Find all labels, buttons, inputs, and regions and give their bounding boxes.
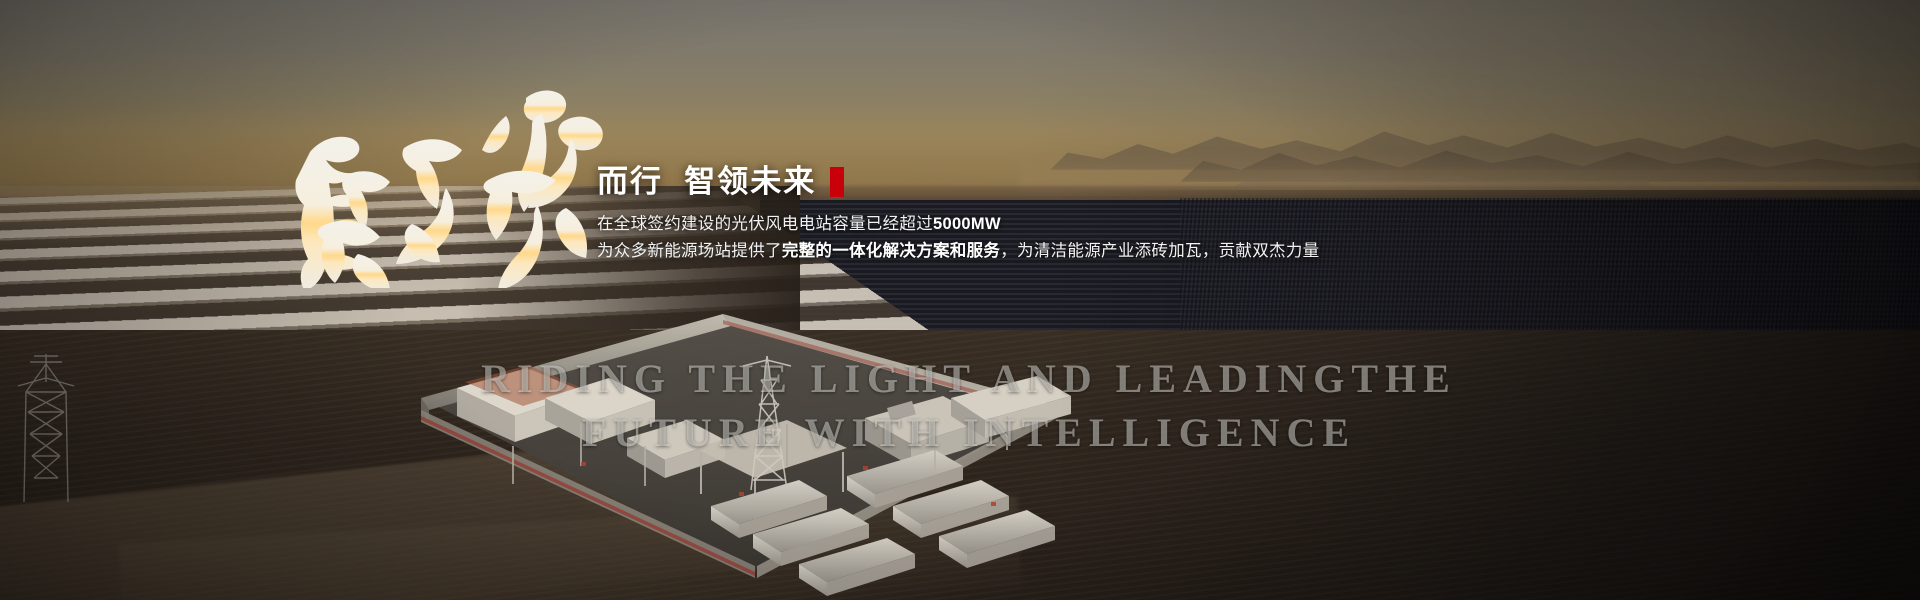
hero-subtitle-line-2: 为众多新能源场站提供了完整的一体化解决方案和服务，为清洁能源产业添砖加瓦，贡献双… (597, 239, 1357, 265)
hero-subtitle-line-1: 在全球签约建设的光伏风电电站容量已经超过5000MW (597, 212, 1357, 238)
subtitle-line1-capacity: 5000MW (933, 215, 1001, 233)
calligraphy-yuguang-icon (286, 58, 616, 288)
subtitle-line2-solution: 完整的一体化解决方案和服务 (782, 242, 1000, 260)
transmission-tower-icon (10, 352, 82, 502)
substation-facility (395, 270, 1085, 600)
hero-headline: 而行 智领未来 (597, 165, 1357, 200)
headline-text: 而行 智领未来 (597, 165, 816, 200)
red-marker-block (830, 167, 844, 197)
hero-copy: 而行 智领未来 在全球签约建设的光伏风电电站容量已经超过5000MW 为众多新能… (597, 165, 1357, 265)
subtitle-line1-prefix: 在全球签约建设的光伏风电电站容量已经超过 (597, 215, 933, 233)
subtitle-line2-prefix: 为众多新能源场站提供了 (597, 242, 782, 260)
hero-banner: 而行 智领未来 在全球签约建设的光伏风电电站容量已经超过5000MW 为众多新能… (0, 0, 1920, 600)
subtitle-line2-suffix: ，为清洁能源产业添砖加瓦，贡献双杰力量 (1000, 242, 1319, 260)
